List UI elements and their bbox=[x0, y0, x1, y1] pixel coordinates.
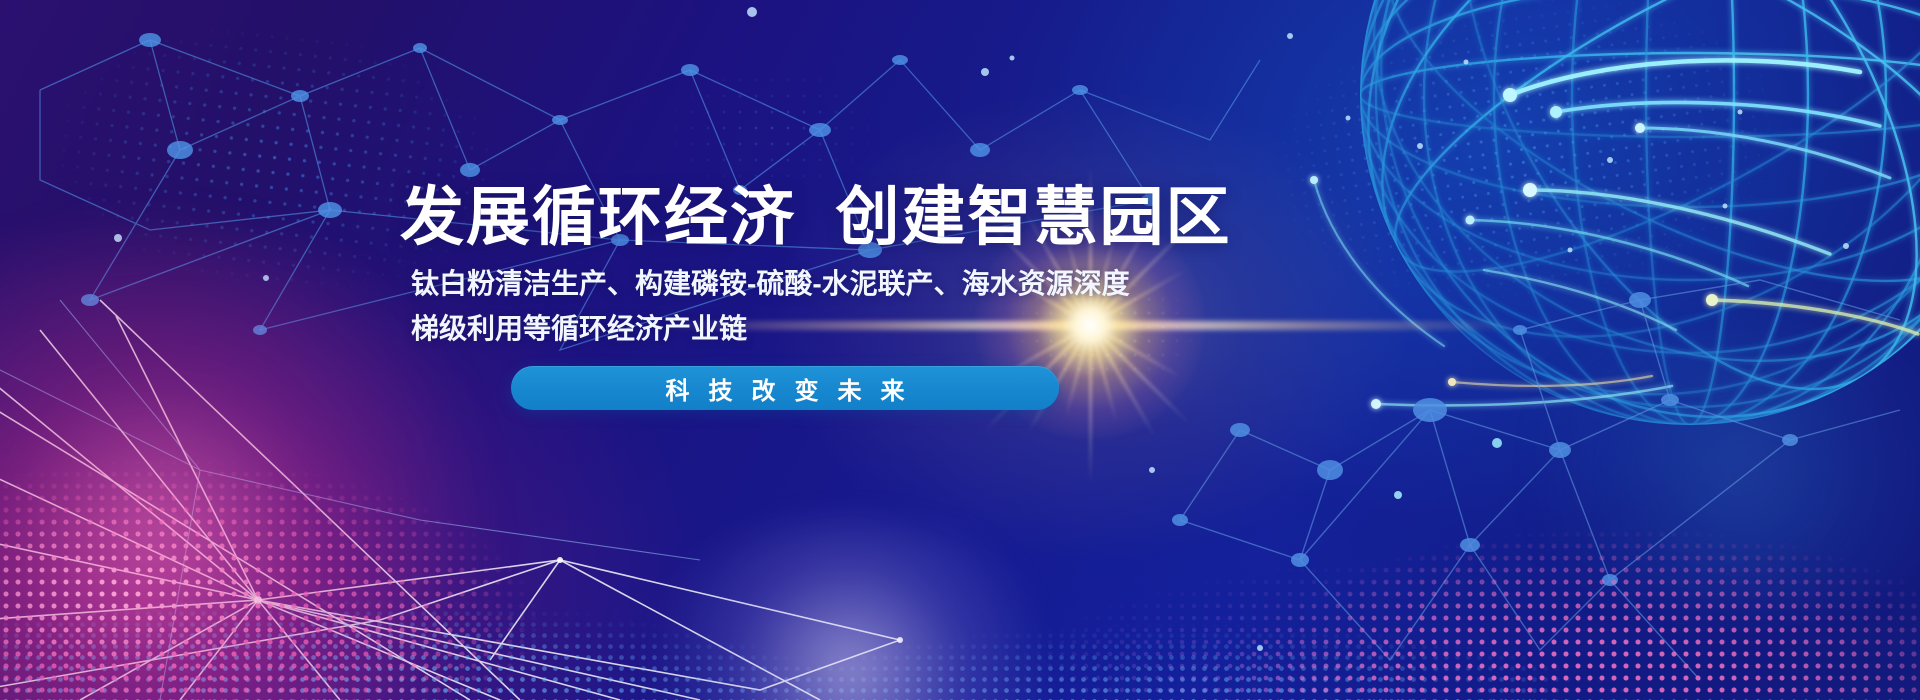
banner-content: 发展循环经济 创建智慧园区 钛白粉清洁生产、构建磷铵-硫酸-水泥联产、海水资源深… bbox=[0, 0, 1920, 700]
subtitle-line-2: 梯级利用等循环经济产业链 bbox=[411, 306, 1211, 351]
hero-banner: 发展循环经济 创建智慧园区 钛白粉清洁生产、构建磷铵-硫酸-水泥联产、海水资源深… bbox=[0, 0, 1920, 700]
subtitle-line-1: 钛白粉清洁生产、构建磷铵-硫酸-水泥联产、海水资源深度 bbox=[411, 261, 1211, 306]
subtitle-block: 钛白粉清洁生产、构建磷铵-硫酸-水泥联产、海水资源深度 梯级利用等循环经济产业链 bbox=[411, 261, 1211, 351]
cta-button-label: 科技改变未来 bbox=[647, 371, 924, 406]
cta-button[interactable]: 科技改变未来 bbox=[511, 366, 1059, 410]
page-title: 发展循环经济 创建智慧园区 bbox=[400, 166, 1500, 258]
